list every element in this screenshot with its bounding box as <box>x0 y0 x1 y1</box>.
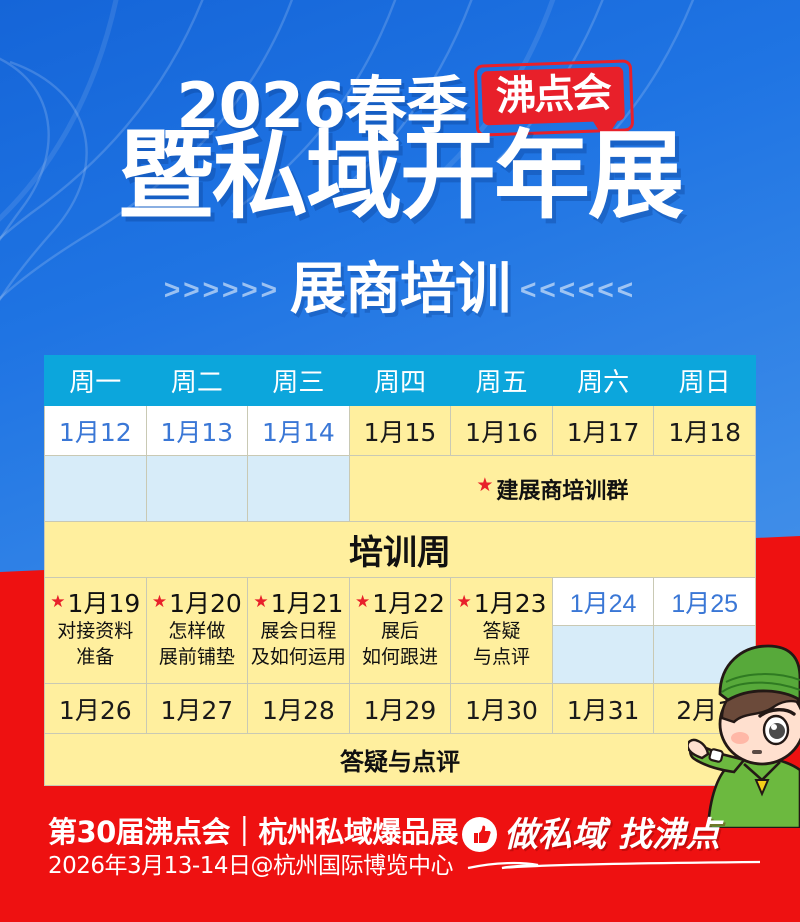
weekday-header-thu: 周四 <box>349 356 451 406</box>
task-title-1: 展会日程 <box>249 620 348 643</box>
weekday-header-mon: 周一 <box>45 356 147 406</box>
task-date-line: ★1月20 <box>148 591 247 617</box>
week1-event-label: 建展商培训群 <box>496 479 628 504</box>
slogan-underline-flourish <box>466 860 762 870</box>
date-cell: 1月24 <box>553 578 654 626</box>
red-star-icon: ★ <box>457 592 472 612</box>
task-date: 1月21 <box>271 589 344 618</box>
thumbs-up-icon <box>462 817 497 852</box>
week1-date-row: 1月12 1月13 1月14 1月15 1月16 1月17 1月18 <box>45 406 756 456</box>
bottom-banner: 第30届沸点会｜杭州私域爆品展 2026年3月13-14日@杭州国际博览中心 做… <box>0 800 800 922</box>
task-title-2: 与点评 <box>452 646 551 669</box>
weekday-header-sat: 周六 <box>552 356 654 406</box>
task-title-1: 答疑 <box>452 620 551 643</box>
date-cell: 1月25 <box>654 578 755 626</box>
header-line-3: >>>>>> 展商培训 <<<<<< <box>0 262 800 318</box>
date-cell: 1月18 <box>654 406 756 456</box>
red-star-icon: ★ <box>50 592 65 612</box>
empty-cell <box>248 456 350 522</box>
week2-task-row: ★1月19 对接资料 准备 ★1月20 怎样做 展前铺垫 ★1月21 展会日程 … <box>45 578 756 684</box>
weekday-header-tue: 周二 <box>146 356 248 406</box>
task-title-2: 及如何运用 <box>249 646 348 669</box>
task-date-line: ★1月21 <box>249 591 348 617</box>
red-star-icon: ★ <box>253 592 268 612</box>
training-week-row: 培训周 <box>45 522 756 578</box>
arrows-left-icon: >>>>>> <box>164 276 280 304</box>
task-date: 1月19 <box>68 589 141 618</box>
task-cell: ★1月20 怎样做 展前铺垫 <box>146 578 248 684</box>
date-cell: 1月15 <box>349 406 451 456</box>
slogan-block: 做私域 找沸点 <box>462 817 720 852</box>
empty-cell <box>146 456 248 522</box>
date-cell: 1月16 <box>451 406 553 456</box>
task-cell: ★1月22 展后 如何跟进 <box>349 578 451 684</box>
week3-date-row: 1月26 1月27 1月28 1月29 1月30 1月31 2月1 <box>45 684 756 734</box>
subtitle-text: 展商培训 <box>286 262 514 318</box>
date-cell: 1月17 <box>552 406 654 456</box>
date-cell: 1月12 <box>45 406 147 456</box>
red-star-icon: ★ <box>355 592 370 612</box>
task-title-2: 展前铺垫 <box>148 646 247 669</box>
slogan-text: 做私域 找沸点 <box>504 818 720 852</box>
empty-cell <box>45 456 147 522</box>
date-cell: 1月14 <box>248 406 350 456</box>
date-cell: 1月30 <box>451 684 553 734</box>
task-date: 1月23 <box>474 589 547 618</box>
date-cell: 1月29 <box>349 684 451 734</box>
main-title: 暨私域开年展 <box>0 128 800 224</box>
date-cell: 1月27 <box>146 684 248 734</box>
task-title-2: 准备 <box>46 646 145 669</box>
weekend-cell: 1月24 <box>552 578 654 684</box>
task-title-2: 如何跟进 <box>351 646 450 669</box>
week1-event-cell: ★建展商培训群 <box>349 456 755 522</box>
date-cell: 1月13 <box>146 406 248 456</box>
poster-canvas: 2026春季 沸点会 暨私域开年展 >>>>>> 展商培训 <<<<<< 周一 … <box>0 0 800 922</box>
task-cell: ★1月23 答疑 与点评 <box>451 578 553 684</box>
feidianhui-badge: 沸点会 <box>482 69 624 123</box>
training-week-label: 培训周 <box>45 522 756 578</box>
training-calendar-table: 周一 周二 周三 周四 周五 周六 周日 1月12 1月13 1月14 1月15… <box>44 355 756 786</box>
date-cell: 1月31 <box>552 684 654 734</box>
task-title-1: 怎样做 <box>148 620 247 643</box>
event-title: 第30届沸点会｜杭州私域爆品展 <box>48 814 458 850</box>
task-date: 1月22 <box>372 589 445 618</box>
event-datetime-venue: 2026年3月13-14日@杭州国际博览中心 <box>48 852 458 882</box>
task-date-line: ★1月22 <box>351 591 450 617</box>
task-date-line: ★1月19 <box>46 591 145 617</box>
weekday-header-sun: 周日 <box>654 356 756 406</box>
date-cell: 1月28 <box>248 684 350 734</box>
week3-event-row: 答疑与点评 <box>45 734 756 786</box>
poster-header: 2026春季 沸点会 暨私域开年展 >>>>>> 展商培训 <<<<<< <box>0 0 800 350</box>
badge-label: 沸点会 <box>481 67 625 126</box>
task-title-1: 展后 <box>351 620 450 643</box>
date-cell: 1月26 <box>45 684 147 734</box>
arrows-right-icon: <<<<<< <box>520 276 636 304</box>
week1-event-row: ★建展商培训群 <box>45 456 756 522</box>
task-title-1: 对接资料 <box>46 620 145 643</box>
weekday-header-row: 周一 周二 周三 周四 周五 周六 周日 <box>45 356 756 406</box>
red-star-icon: ★ <box>152 592 167 612</box>
red-star-icon: ★ <box>476 475 493 496</box>
task-date-line: ★1月23 <box>452 591 551 617</box>
weekday-header-wed: 周三 <box>248 356 350 406</box>
task-cell: ★1月19 对接资料 准备 <box>45 578 147 684</box>
task-date: 1月20 <box>169 589 242 618</box>
event-info-block: 第30届沸点会｜杭州私域爆品展 2026年3月13-14日@杭州国际博览中心 <box>48 814 458 882</box>
weekday-header-fri: 周五 <box>451 356 553 406</box>
task-cell: ★1月21 展会日程 及如何运用 <box>248 578 350 684</box>
empty-cell <box>553 626 654 683</box>
week3-event-label: 答疑与点评 <box>45 734 756 786</box>
